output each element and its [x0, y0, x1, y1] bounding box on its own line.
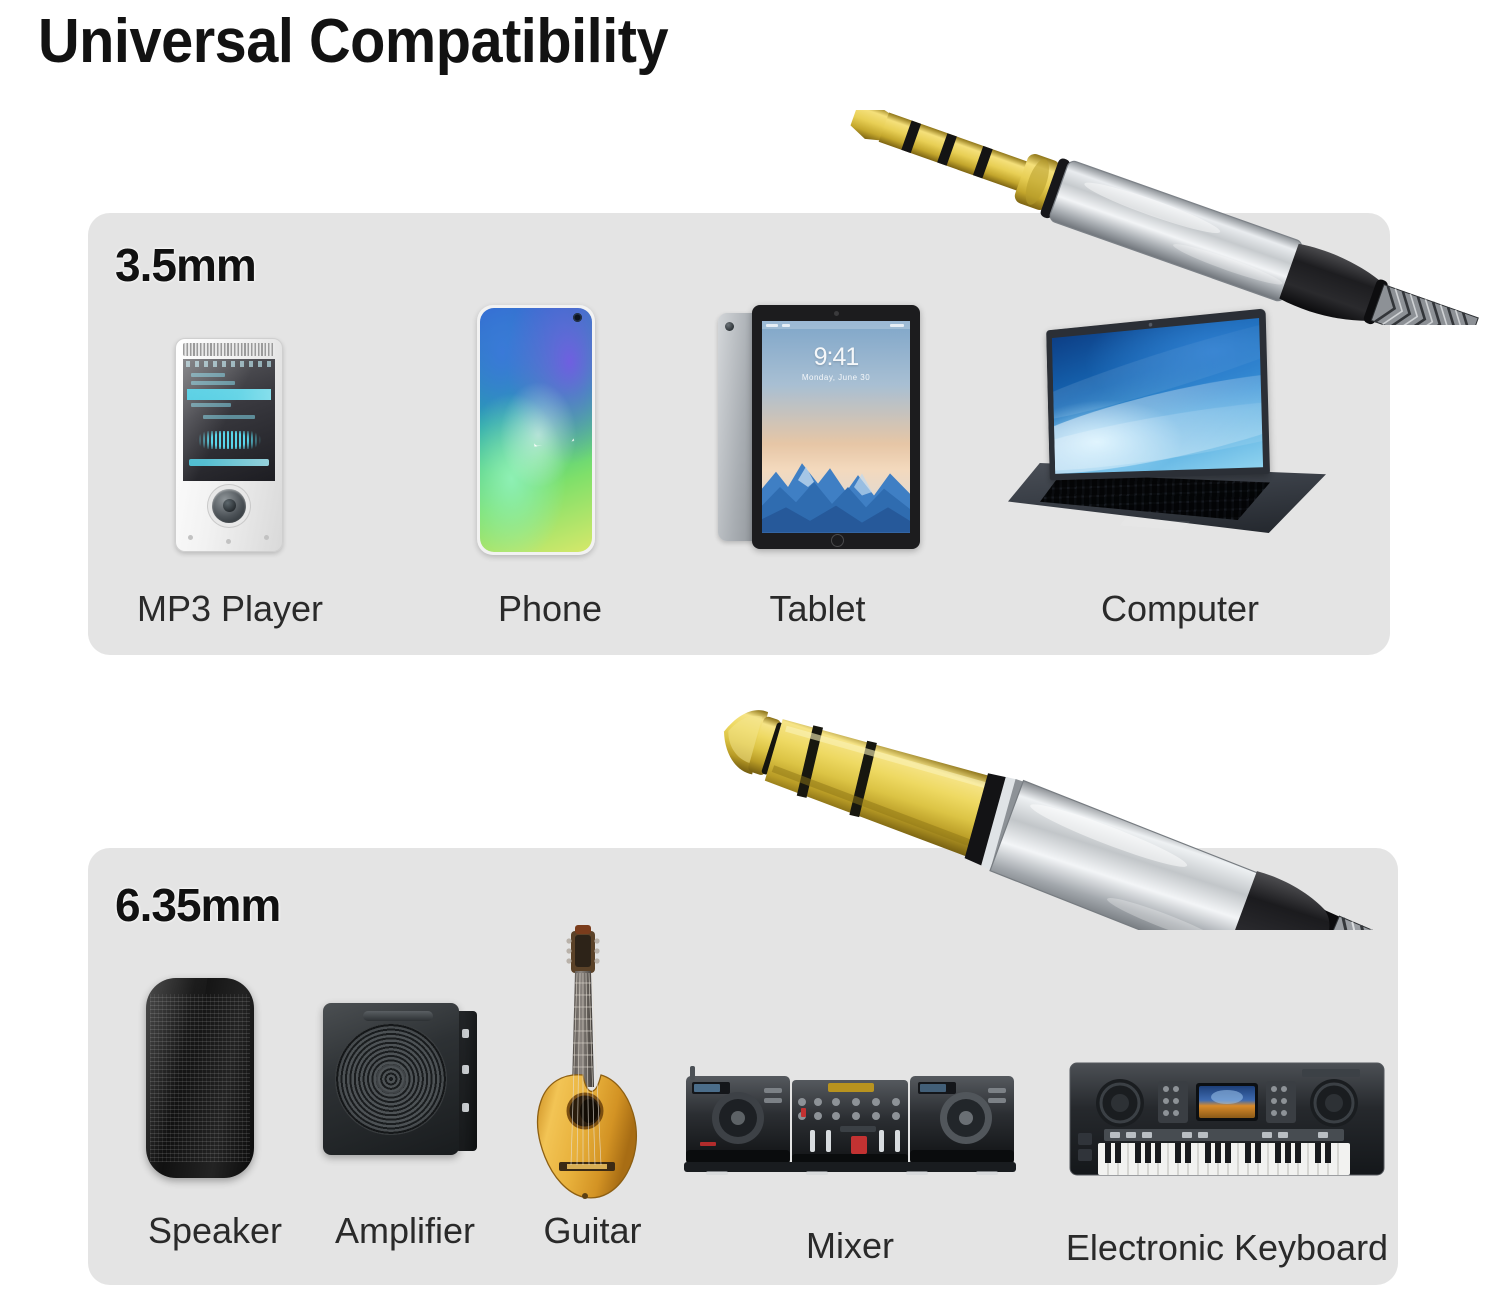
page-title: Universal Compatibility: [38, 6, 668, 77]
device-caption: Amplifier: [305, 1210, 505, 1252]
tablet-lockscreen-time: 9:41: [762, 343, 910, 372]
acoustic-guitar-icon: [505, 915, 680, 1215]
device-cell-computer: Computer: [1000, 300, 1360, 630]
device-cell-phone: Phone: [455, 305, 645, 630]
section-label-6-35mm: 6.35mm: [115, 878, 280, 932]
device-cell-mp3-player: MP3 Player: [120, 330, 340, 630]
device-caption: Guitar: [505, 1210, 680, 1252]
section-label-3-5mm: 3.5mm: [115, 238, 256, 292]
electronic-keyboard-icon: [1062, 1055, 1392, 1190]
mountain-wallpaper: [762, 431, 910, 533]
device-cell-amplifier: Amplifier: [305, 985, 505, 1260]
device-cell-mixer: Mixer: [680, 1050, 1020, 1260]
device-caption: Electronic Keyboard: [1062, 1227, 1392, 1269]
laptop-icon: [1000, 300, 1360, 540]
device-cell-electronic-keyboard: Electronic Keyboard: [1062, 1055, 1392, 1260]
device-caption: Speaker: [120, 1210, 310, 1252]
connector-6-35mm-plug: [700, 700, 1500, 930]
dj-mixer-icon: [680, 1050, 1020, 1190]
device-caption: Computer: [1000, 588, 1360, 630]
device-caption: Tablet: [710, 588, 925, 630]
tablet-lockscreen-date: Monday, June 30: [762, 373, 910, 382]
device-caption: MP3 Player: [120, 588, 340, 630]
device-caption: Phone: [455, 588, 645, 630]
device-cell-tablet: 9:41 Monday, June 30 Tablet: [710, 305, 925, 630]
device-cell-guitar: Guitar: [505, 915, 680, 1255]
connector-3-5mm-plug: [830, 110, 1500, 325]
device-caption: Mixer: [680, 1225, 1020, 1267]
device-cell-speaker: Speaker: [120, 970, 310, 1260]
